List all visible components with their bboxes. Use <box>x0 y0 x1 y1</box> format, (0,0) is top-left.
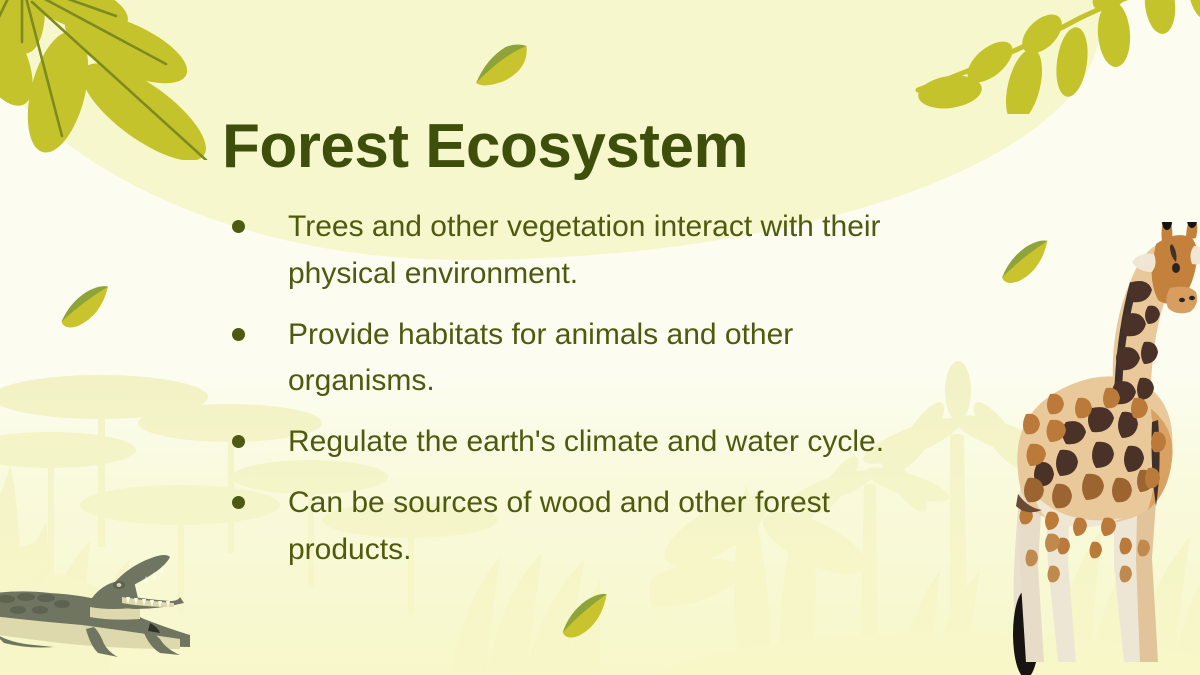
fern-leaf-cluster-icon <box>0 0 256 160</box>
crocodile-illustration <box>0 537 244 667</box>
list-item-label: Provide habitats for animals and other o… <box>288 318 793 398</box>
list-item-label: Trees and other vegetation interact with… <box>288 210 881 290</box>
list-item: Regulate the earth's climate and water c… <box>222 419 922 466</box>
page-title: Forest Ecosystem <box>222 116 922 178</box>
floating-leaf-icon <box>58 280 115 331</box>
bullet-dot-icon <box>232 435 245 448</box>
list-item-label: Can be sources of wood and other forest … <box>288 486 830 566</box>
slide-canvas: Forest Ecosystem Trees and other vegetat… <box>0 0 1200 675</box>
giraffe-illustration <box>900 222 1200 675</box>
bullet-dot-icon <box>232 328 245 341</box>
floating-leaf-icon <box>556 588 615 642</box>
bullet-dot-icon <box>232 220 245 233</box>
list-item-label: Regulate the earth's climate and water c… <box>288 425 884 458</box>
floating-leaf-icon <box>472 28 536 97</box>
bullet-dot-icon <box>232 496 245 509</box>
bullet-list: Trees and other vegetation interact with… <box>222 204 922 574</box>
list-item: Provide habitats for animals and other o… <box>222 312 922 406</box>
list-item: Can be sources of wood and other forest … <box>222 480 922 574</box>
list-item: Trees and other vegetation interact with… <box>222 204 922 298</box>
leafy-branch-icon <box>912 0 1200 114</box>
slide-content: Forest Ecosystem Trees and other vegetat… <box>222 116 922 574</box>
